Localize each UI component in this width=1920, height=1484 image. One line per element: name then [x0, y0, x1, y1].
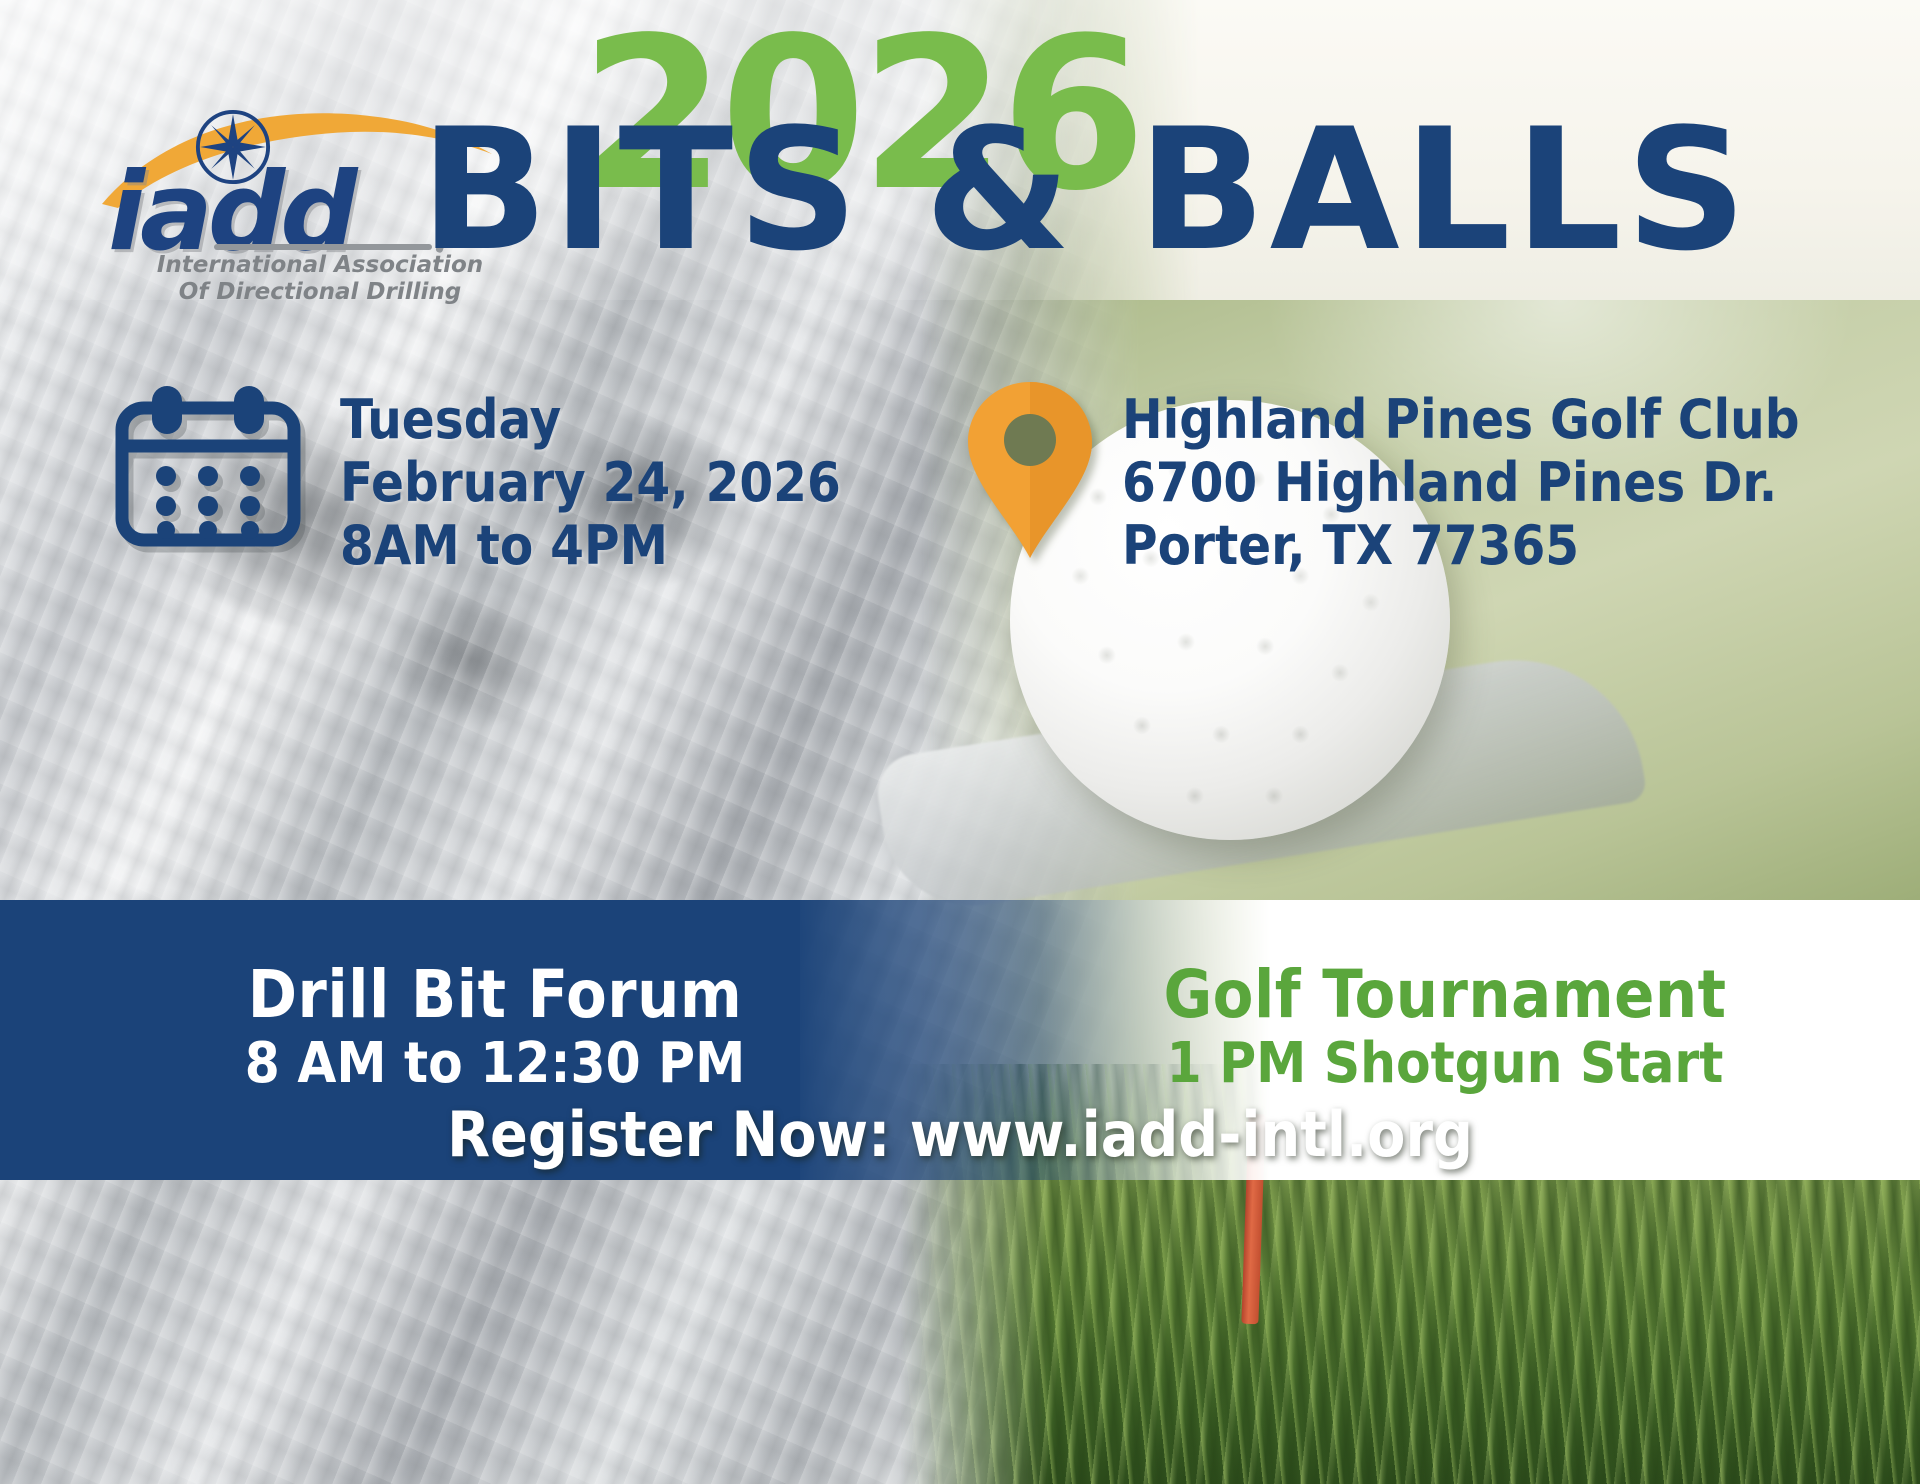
event-date-hours: 8AM to 4PM: [340, 514, 841, 577]
event-title: BITS & BALLS: [420, 106, 1751, 274]
drill-bit-forum-time: 8 AM to 12:30 PM: [0, 1033, 990, 1095]
register-label: Register Now:: [447, 1098, 890, 1171]
drill-bit-forum-title: Drill Bit Forum: [0, 960, 990, 1029]
golf-tournament-block: Golf Tournament 1 PM Shotgun Start: [950, 960, 1920, 1095]
venue-name: Highland Pines Golf Club: [1122, 388, 1800, 451]
golf-tournament-title: Golf Tournament: [950, 960, 1920, 1029]
drill-bit-forum-block: Drill Bit Forum 8 AM to 12:30 PM: [0, 960, 990, 1095]
venue-street: 6700 Highland Pines Dr.: [1122, 451, 1800, 514]
register-call-to-action[interactable]: Register Now: www.iadd-intl.org: [0, 1098, 1920, 1171]
event-location-block: Highland Pines Golf Club 6700 Highland P…: [966, 380, 1800, 578]
bits-and-balls-event-banner: iadd International Association Of Direct…: [0, 0, 1920, 1484]
event-details-row: Tuesday February 24, 2026 8AM to 4PM Hig…: [0, 370, 1920, 600]
banner-header: iadd International Association Of Direct…: [0, 0, 1920, 345]
event-headline: 2026 BITS & BALLS: [420, 10, 1920, 280]
calendar-icon: [108, 380, 308, 552]
golf-tournament-time: 1 PM Shotgun Start: [950, 1033, 1920, 1095]
register-url[interactable]: www.iadd-intl.org: [910, 1098, 1473, 1171]
event-date-weekday: Tuesday: [340, 388, 841, 451]
event-date-block: Tuesday February 24, 2026 8AM to 4PM: [108, 380, 841, 578]
event-date-full: February 24, 2026: [340, 451, 841, 514]
logo-underline-rule: [214, 244, 432, 250]
event-location-text: Highland Pines Golf Club 6700 Highland P…: [1122, 380, 1800, 578]
venue-city-state-zip: Porter, TX 77365: [1122, 514, 1800, 577]
map-pin-icon: [966, 380, 1094, 560]
event-date-text: Tuesday February 24, 2026 8AM to 4PM: [340, 380, 841, 578]
